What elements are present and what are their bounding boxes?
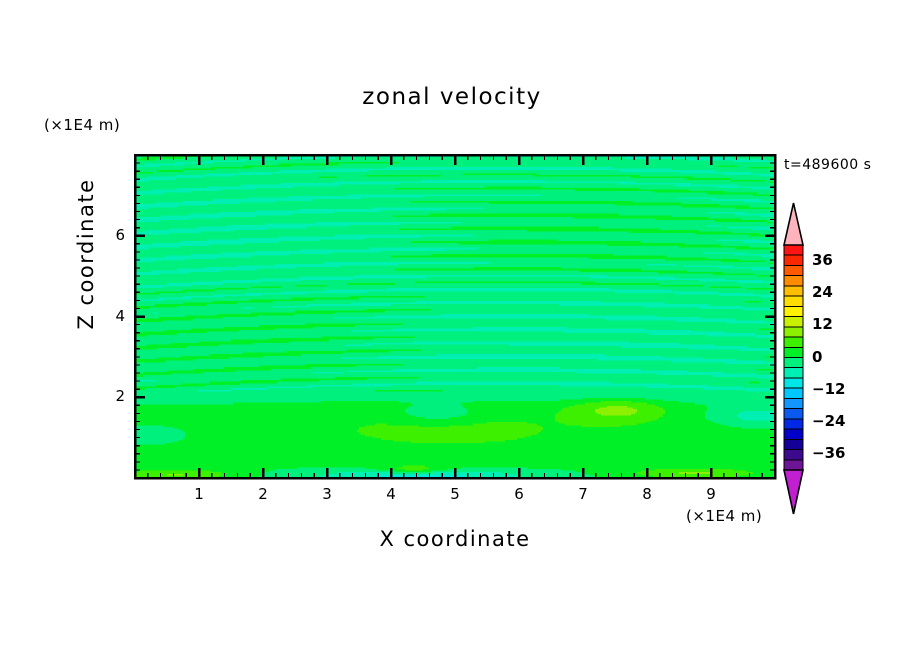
colorbar-tick-label: 36: [812, 251, 833, 269]
colorbar-tick-label: 0: [812, 348, 822, 366]
x-tick-label: 9: [699, 485, 723, 503]
colorbar-tick-label: 12: [812, 315, 833, 333]
x-tick-label: 2: [251, 485, 275, 503]
x-tick-label: 6: [507, 485, 531, 503]
colorbar-tick-label: −36: [812, 444, 845, 462]
contour-plot-figure: zonal velocity (×1E4 m) (×1E4 m) t=48960…: [0, 0, 904, 654]
x-tick-label: 4: [379, 485, 403, 503]
colorbar-tick-label: −24: [812, 412, 845, 430]
x-tick-label: 7: [571, 485, 595, 503]
plot-canvas: [0, 0, 904, 654]
x-tick-label: 8: [635, 485, 659, 503]
x-tick-label: 3: [315, 485, 339, 503]
y-tick-label: 4: [101, 307, 125, 325]
colorbar-tick-label: 24: [812, 283, 833, 301]
x-tick-label: 1: [187, 485, 211, 503]
x-tick-label: 5: [443, 485, 467, 503]
y-tick-label: 2: [101, 387, 125, 405]
colorbar-tick-label: −12: [812, 380, 845, 398]
y-tick-label: 6: [101, 226, 125, 244]
